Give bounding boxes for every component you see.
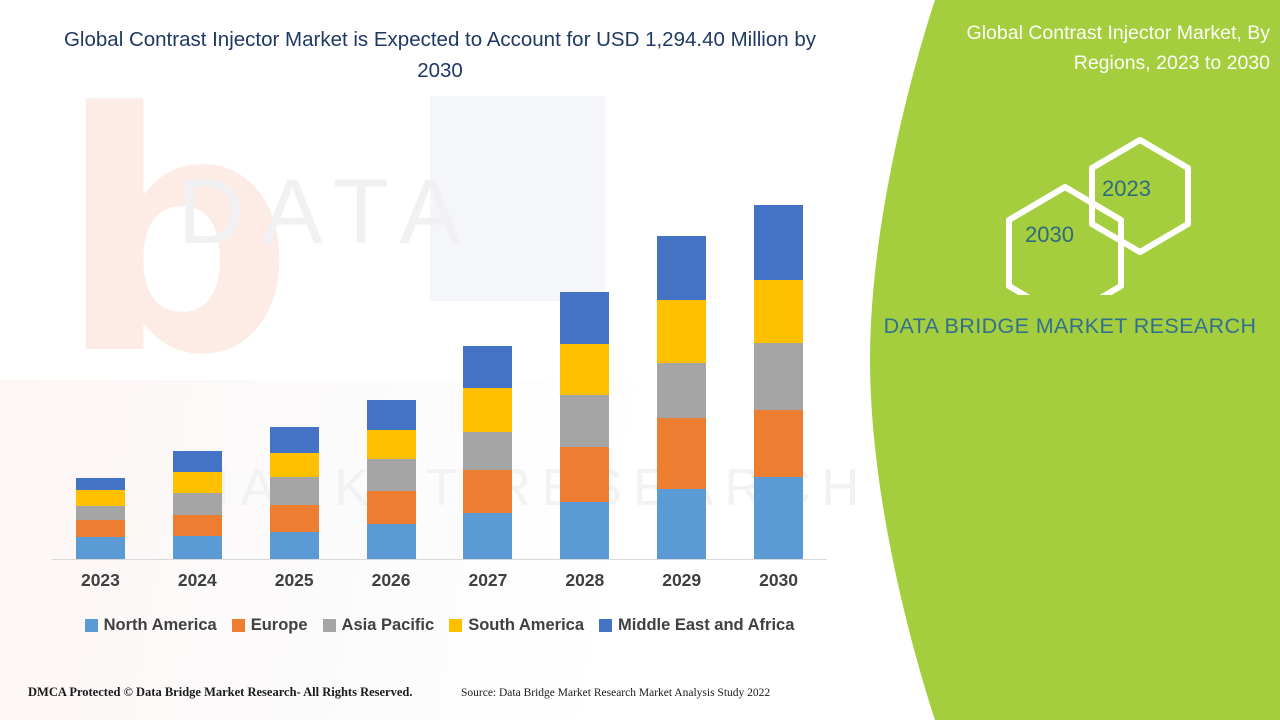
bar-segment[interactable]	[754, 477, 803, 559]
legend-label: South America	[468, 616, 584, 635]
bar-segment[interactable]	[754, 280, 803, 343]
x-axis-label: 2028	[536, 570, 633, 591]
bar-stack[interactable]	[657, 236, 706, 559]
legend-item[interactable]: South America	[449, 616, 584, 635]
bar-segment[interactable]	[560, 502, 609, 559]
page-title: Global Contrast Injector Market is Expec…	[60, 24, 820, 86]
bar-segment[interactable]	[76, 490, 125, 506]
x-axis-labels: 20232024202520262027202820292030	[52, 570, 827, 591]
bar-segment[interactable]	[173, 493, 222, 515]
bar-column[interactable]	[149, 150, 246, 559]
bar-segment[interactable]	[367, 400, 416, 430]
bar-stack[interactable]	[76, 478, 125, 559]
bar-segment[interactable]	[754, 410, 803, 477]
legend-label: Middle East and Africa	[618, 616, 794, 635]
bar-segment[interactable]	[657, 418, 706, 489]
bar-segment[interactable]	[560, 292, 609, 344]
bar-stack[interactable]	[173, 451, 222, 559]
bar-column[interactable]	[536, 150, 633, 559]
bar-segment[interactable]	[657, 363, 706, 418]
bar-segment[interactable]	[463, 346, 512, 388]
bar-segment[interactable]	[560, 395, 609, 447]
bar-column[interactable]	[633, 150, 730, 559]
bar-segment[interactable]	[270, 477, 319, 505]
bar-segment[interactable]	[754, 205, 803, 280]
x-axis-label: 2024	[149, 570, 246, 591]
x-axis-line	[52, 559, 827, 560]
bar-column[interactable]	[52, 150, 149, 559]
brand-panel: Global Contrast Injector Market, By Regi…	[840, 0, 1280, 720]
legend-label: North America	[104, 616, 217, 635]
bar-stack[interactable]	[560, 292, 609, 559]
bar-stack[interactable]	[463, 346, 512, 559]
legend-item[interactable]: North America	[85, 616, 217, 635]
bar-segment[interactable]	[657, 236, 706, 300]
bar-segment[interactable]	[76, 506, 125, 520]
legend-swatch-icon	[599, 619, 612, 632]
x-axis-label: 2029	[633, 570, 730, 591]
hexagon-badges: 2023 2030	[840, 130, 1280, 295]
bar-segment[interactable]	[463, 470, 512, 513]
bar-stack[interactable]	[367, 400, 416, 559]
x-axis-label: 2026	[343, 570, 440, 591]
bar-segment[interactable]	[367, 491, 416, 524]
brand-name: DATA BRIDGE MARKET RESEARCH	[880, 310, 1260, 342]
bar-segment[interactable]	[657, 300, 706, 363]
bar-column[interactable]	[730, 150, 827, 559]
bar-segment[interactable]	[270, 505, 319, 532]
legend-item[interactable]: Europe	[232, 616, 308, 635]
bar-segment[interactable]	[657, 489, 706, 559]
infographic-canvas: b DATA MARKET RESEARCH Global Contrast I…	[0, 0, 1280, 720]
hex-label-end: 2030	[1025, 222, 1074, 248]
bar-segment[interactable]	[173, 515, 222, 536]
footer-source: Source: Data Bridge Market Research Mark…	[461, 687, 770, 699]
bar-stack[interactable]	[270, 427, 319, 559]
bar-segment[interactable]	[560, 447, 609, 502]
bar-group	[52, 150, 827, 559]
bar-segment[interactable]	[463, 513, 512, 559]
bar-column[interactable]	[440, 150, 537, 559]
bar-segment[interactable]	[173, 472, 222, 493]
bar-segment[interactable]	[76, 478, 125, 490]
legend-swatch-icon	[323, 619, 336, 632]
legend-swatch-icon	[85, 619, 98, 632]
chart-panel: Global Contrast Injector Market is Expec…	[0, 0, 950, 720]
legend-label: Europe	[251, 616, 308, 635]
x-axis-label: 2027	[440, 570, 537, 591]
bar-segment[interactable]	[270, 532, 319, 559]
bar-segment[interactable]	[76, 520, 125, 537]
bar-column[interactable]	[246, 150, 343, 559]
chart-legend: North AmericaEuropeAsia PacificSouth Ame…	[52, 616, 827, 635]
brand-panel-content: Global Contrast Injector Market, By Regi…	[840, 0, 1280, 720]
bar-segment[interactable]	[463, 432, 512, 470]
legend-swatch-icon	[232, 619, 245, 632]
bar-segment[interactable]	[560, 344, 609, 395]
bar-segment[interactable]	[463, 388, 512, 432]
bar-segment[interactable]	[173, 451, 222, 472]
plot-area	[52, 150, 827, 560]
bar-segment[interactable]	[367, 459, 416, 491]
legend-swatch-icon	[449, 619, 462, 632]
bar-segment[interactable]	[367, 524, 416, 559]
bar-stack[interactable]	[754, 205, 803, 559]
legend-label: Asia Pacific	[342, 616, 435, 635]
bar-segment[interactable]	[367, 430, 416, 459]
hexagon-outlines	[840, 130, 1280, 295]
bar-segment[interactable]	[76, 537, 125, 559]
x-axis-label: 2025	[246, 570, 343, 591]
legend-item[interactable]: Asia Pacific	[323, 616, 435, 635]
x-axis-label: 2030	[730, 570, 827, 591]
bar-segment[interactable]	[270, 453, 319, 477]
footer-copyright: DMCA Protected © Data Bridge Market Rese…	[28, 685, 413, 700]
bar-segment[interactable]	[173, 536, 222, 559]
legend-item[interactable]: Middle East and Africa	[599, 616, 794, 635]
panel-title: Global Contrast Injector Market, By Regi…	[900, 18, 1270, 78]
hex-label-start: 2023	[1102, 176, 1151, 202]
x-axis-label: 2023	[52, 570, 149, 591]
bar-segment[interactable]	[270, 427, 319, 453]
bar-segment[interactable]	[754, 343, 803, 410]
bar-column[interactable]	[343, 150, 440, 559]
